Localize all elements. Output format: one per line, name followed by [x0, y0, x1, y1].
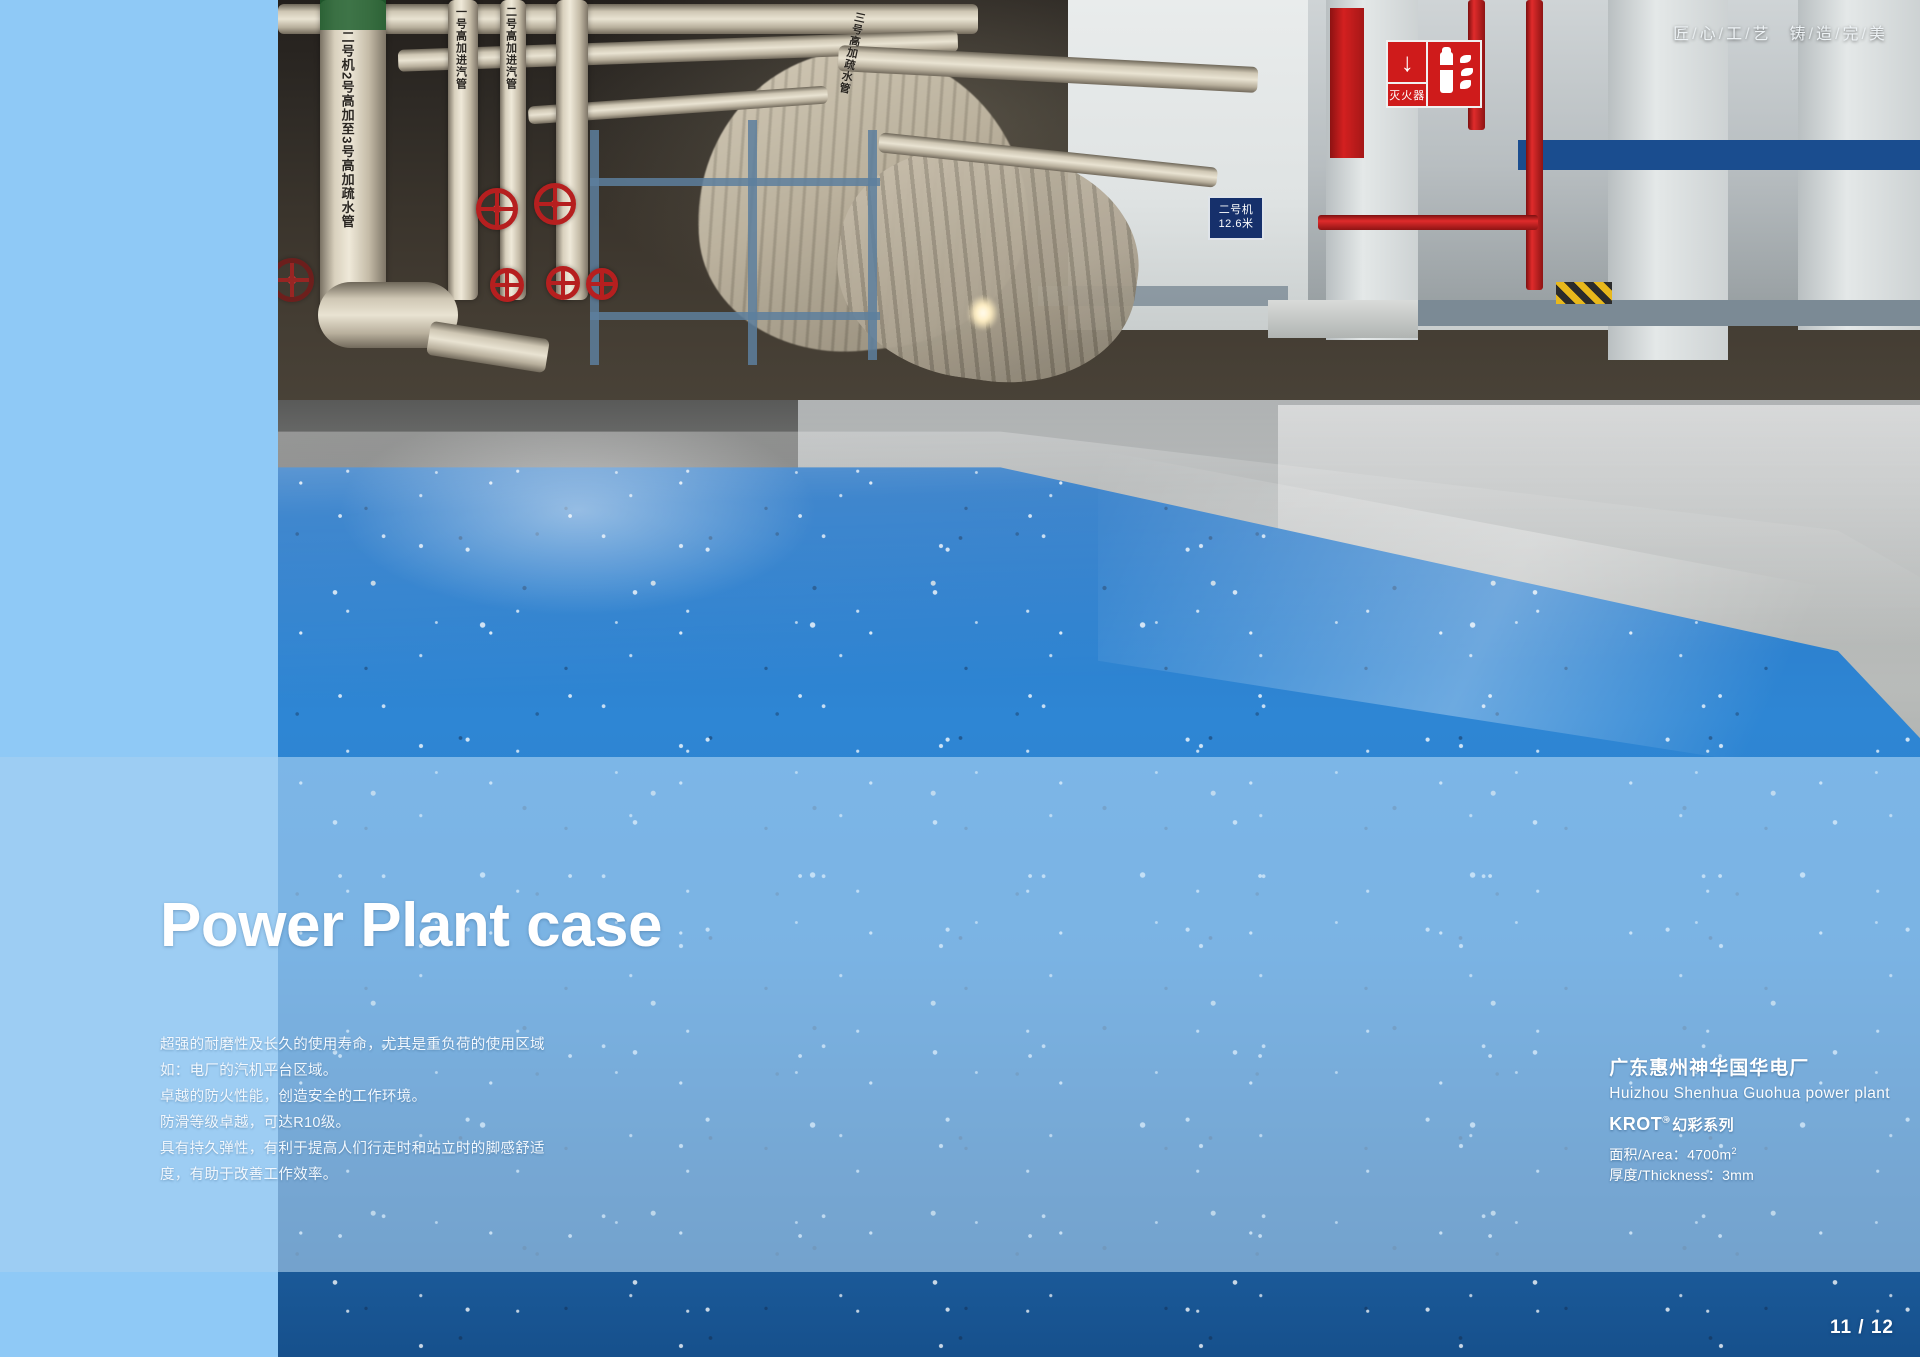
tagline-sep: / [1835, 26, 1842, 43]
brand-tagline: 匠/心/工/艺铸/造/完/美 [1673, 20, 1888, 44]
machine-sign-line2: 12.6米 [1219, 218, 1254, 232]
tagline-char-2: 心 [1700, 26, 1719, 43]
valve-wheel-5 [586, 268, 618, 300]
description-line: 防滑等级卓越，可达R10级。 [160, 1110, 520, 1136]
machine-height-sign: 二号机 12.6米 [1208, 196, 1264, 240]
brand-logo: KROT®幻彩系列 [1609, 1114, 1890, 1135]
pipe-label-3: 二号高加进汽管 [504, 6, 516, 176]
wall-blue-stripe [1518, 140, 1920, 170]
registered-trademark-icon: ® [1662, 1115, 1670, 1126]
tagline-char-8: 美 [1869, 26, 1888, 43]
tagline-char-5: 铸 [1790, 26, 1809, 43]
project-name-en: Huizhou Shenhua Guohua power plant [1609, 1085, 1890, 1103]
page-number: 11 / 12 [1830, 1317, 1894, 1339]
support-frame-vertical-c [868, 130, 877, 360]
text-overlay-band [0, 757, 1920, 1272]
fire-sign-label: 灭火器 [1388, 84, 1426, 106]
page-title: Power Plant case [160, 890, 662, 961]
tagline-sep: / [1692, 26, 1699, 43]
fire-hose-cabinet [1330, 8, 1364, 158]
valve-wheel-2 [534, 183, 576, 225]
support-frame-vertical-b [748, 120, 757, 365]
area-label: 面积/Area： [1609, 1147, 1687, 1163]
tagline-char-4: 艺 [1753, 26, 1772, 43]
pipe-label-main: 二号机2号高加至3号高加疏水管 [340, 30, 354, 295]
machine-sign-line1: 二号机 [1219, 204, 1254, 218]
project-name-cn: 广东惠州神华国华电厂 [1609, 1053, 1890, 1080]
pipe-green-marking [320, 0, 386, 30]
tagline-char-6: 造 [1816, 26, 1835, 43]
tagline-sep: / [1745, 26, 1752, 43]
tagline-char-3: 工 [1726, 26, 1745, 43]
description-line: 超强的耐磨性及长久的使用寿命，尤其是重负荷的使用区域 [160, 1032, 520, 1058]
tagline-sep: / [1719, 26, 1726, 43]
description-block: 超强的耐磨性及长久的使用寿命，尤其是重负荷的使用区域 如：电厂的汽机平台区域。 … [160, 1032, 520, 1188]
description-line: 具有持久弹性，有利于提高人们行走时和站立时的脚感舒适 [160, 1136, 520, 1162]
yellow-guard [1556, 282, 1612, 304]
area-value: 4700m [1687, 1147, 1731, 1163]
pipe-label-2: 一号高加进汽管 [454, 6, 466, 176]
area-row: 面积/Area：4700m2 [1609, 1141, 1890, 1165]
support-frame-vertical-a [590, 130, 599, 365]
vertical-pipe-4 [556, 0, 588, 300]
down-arrow-icon: ↓ [1388, 42, 1426, 84]
product-series: 幻彩系列 [1672, 1117, 1734, 1134]
valve-wheel-3 [490, 268, 524, 302]
brand-name: KROT [1609, 1114, 1662, 1134]
valve-wheel-1 [476, 188, 518, 230]
thickness-value: 3mm [1722, 1167, 1754, 1183]
extinguisher-icon [1428, 42, 1480, 106]
valve-wheel-4 [546, 266, 580, 300]
thickness-row: 厚度/Thickness：3mm [1609, 1165, 1890, 1185]
support-frame-horizontal-a [590, 178, 880, 186]
text-overlay-band-left [0, 757, 278, 1272]
fire-sign-left: ↓ 灭火器 [1388, 42, 1428, 106]
tagline-sep: / [1862, 26, 1869, 43]
thickness-label: 厚度/Thickness： [1609, 1167, 1722, 1183]
support-frame-horizontal-b [590, 312, 880, 320]
project-info-block: 广东惠州神华国华电厂 Huizhou Shenhua Guohua power … [1609, 1053, 1890, 1185]
description-line: 如：电厂的汽机平台区域。 [160, 1058, 520, 1084]
fire-sprinkler-pipe-horizontal [1318, 215, 1538, 230]
tagline-char-7: 完 [1843, 26, 1862, 43]
tagline-char-1: 匠 [1673, 26, 1692, 43]
fire-extinguisher-sign: ↓ 灭火器 [1386, 40, 1482, 108]
area-unit-superscript: 2 [1731, 1146, 1736, 1156]
description-line: 卓越的防火性能，创造安全的工作环境。 [160, 1084, 520, 1110]
corridor-light [968, 296, 998, 330]
brochure-page: ↓ 灭火器 二号机 12.6米 二 [0, 0, 1920, 1357]
fire-sprinkler-pipe-vertical [1526, 0, 1543, 290]
pedestal-block [1268, 300, 1418, 338]
description-line: 度，有助于改善工作效率。 [160, 1162, 520, 1188]
tagline-sep: / [1809, 26, 1816, 43]
